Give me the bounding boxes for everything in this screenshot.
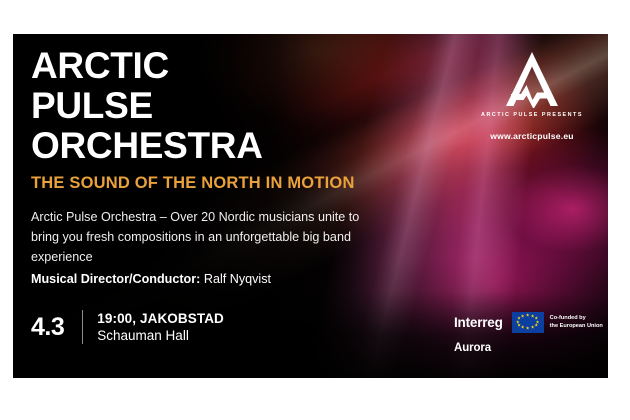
- conductor-credit-label: Musical Director/Conductor:: [31, 272, 200, 286]
- vertical-divider: [82, 310, 83, 344]
- eu-cofunding-text: Co-funded by the European Union: [550, 315, 603, 330]
- eu-flag-star: ★: [534, 323, 538, 328]
- event-poster: ARCTIC PULSE ORCHESTRA THE SOUND OF THE …: [13, 34, 608, 378]
- screenshot-canvas: ARCTIC PULSE ORCHESTRA THE SOUND OF THE …: [0, 0, 630, 420]
- event-date: 4.3: [31, 314, 64, 340]
- funding-top-row: Interreg ★★★★★★★★★★★★ Co-funded by the E…: [454, 312, 604, 333]
- title-line-1: ARCTIC: [31, 46, 361, 86]
- conductor-credit: Musical Director/Conductor: Ralf Nyqvist: [31, 270, 271, 288]
- interreg-wordmark: Interreg: [454, 315, 503, 330]
- eu-flag-star: ★: [526, 327, 530, 332]
- page-title: ARCTIC PULSE ORCHESTRA: [31, 46, 361, 166]
- poster-tagline: THE SOUND OF THE NORTH IN MOTION: [31, 174, 355, 193]
- title-line-3: ORCHESTRA: [31, 126, 361, 166]
- eu-flag-star: ★: [526, 314, 530, 319]
- conductor-credit-name: Ralf Nyqvist: [204, 272, 271, 286]
- eu-cofunding-line-1: Co-funded by: [550, 315, 603, 323]
- arctic-pulse-a-logo-icon: [501, 50, 563, 108]
- eu-cofunding-line-2: the European Union: [550, 323, 603, 331]
- event-time-city: 19:00, JAKOBSTAD: [97, 310, 224, 327]
- brand-lockup: ARCTIC PULSE PRESENTS www.arcticpulse.eu: [478, 50, 586, 141]
- eu-flag-star: ★: [521, 326, 525, 331]
- venue-details: 19:00, JAKOBSTAD Schauman Hall: [97, 310, 224, 344]
- event-details: 4.3 19:00, JAKOBSTAD Schauman Hall: [31, 310, 224, 344]
- european-union-flag-icon: ★★★★★★★★★★★★: [512, 312, 544, 333]
- title-line-2: PULSE: [31, 86, 361, 126]
- eu-flag-star: ★: [521, 315, 525, 320]
- event-venue: Schauman Hall: [97, 327, 224, 344]
- brand-website-url[interactable]: www.arcticpulse.eu: [478, 131, 586, 141]
- poster-content: ARCTIC PULSE ORCHESTRA THE SOUND OF THE …: [13, 34, 608, 378]
- brand-presents-label: ARCTIC PULSE PRESENTS: [478, 112, 586, 118]
- poster-description: Arctic Pulse Orchestra – Over 20 Nordic …: [31, 207, 361, 267]
- eu-flag-star: ★: [531, 326, 535, 331]
- funding-lockup: Interreg ★★★★★★★★★★★★ Co-funded by the E…: [454, 312, 604, 355]
- interreg-program-name: Aurora: [454, 342, 604, 355]
